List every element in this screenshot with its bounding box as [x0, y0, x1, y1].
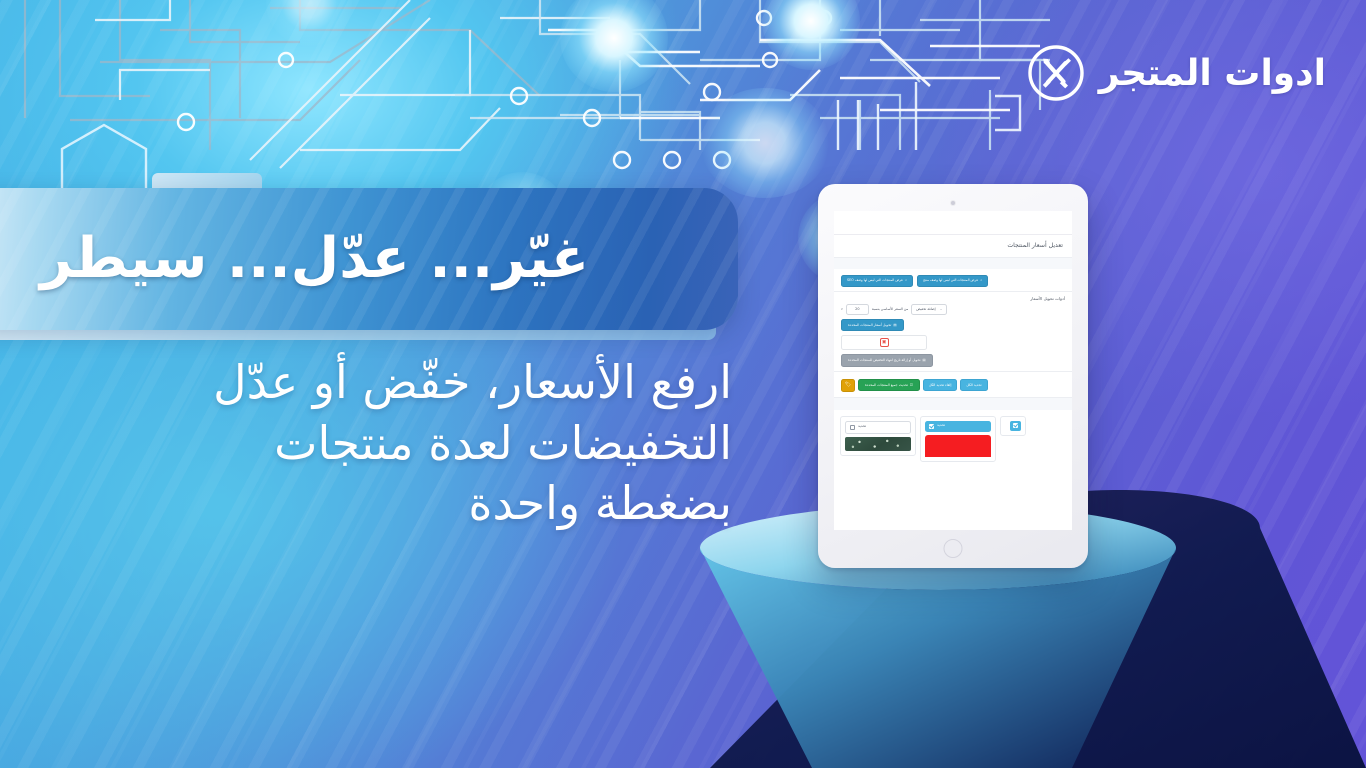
app-screen: تعديل أسعار المنتجات ⌕ عرض المنتجات التي…: [834, 211, 1072, 530]
product-cards-area: تحديد تحديد: [834, 410, 1072, 530]
percentage-input[interactable]: 20: [846, 304, 869, 315]
checkbox-label: تحديد: [937, 424, 945, 428]
filter-no-seo-description-button[interactable]: ⌕ عرض المنتجات التي ليس لها وصف SEO: [841, 275, 913, 287]
brand-name: ادوات المتجر: [1099, 53, 1326, 94]
price-tools-controls-row: ⌄ إضافة تخفيض من السعر الأساسي بنسبة 20 …: [841, 304, 1065, 315]
calculator-icon: ▤: [893, 324, 896, 327]
product-select-checkbox-checked[interactable]: تحديد: [925, 421, 991, 432]
checkbox-unchecked-icon: [850, 425, 855, 430]
product-card[interactable]: تحديد: [840, 416, 916, 456]
update-all-selected-label: تحديث جميع المنتجات المحددة: [865, 384, 908, 387]
subheadline-text: ارفع الأسعار، خفّض أو عدّل التخفيضات لعد…: [172, 352, 732, 534]
checkbox-checked-icon: [929, 424, 934, 429]
percent-unit-label: ٪: [841, 307, 843, 311]
section-gap: [834, 398, 1072, 410]
expiry-date-field[interactable]: ▣: [841, 335, 927, 350]
convert-action-row: ▤ تحويل أسعار المنتجات المحددة: [841, 319, 1065, 331]
divider: [834, 291, 1072, 292]
convert-remove-expiry-button[interactable]: ▤ تحويل أو إزالة تاريخ انتهاء التخفيض لل…: [841, 354, 933, 366]
camera-dot-icon: [951, 201, 955, 205]
footer-actions-row: تحديد الكل إلغاء تحديد الكل ☑ تحديث جميع…: [841, 376, 1065, 392]
divider: [834, 371, 1072, 372]
convert-selected-prices-label: تحويل أسعار المنتجات المحددة: [848, 324, 891, 327]
update-all-selected-button[interactable]: ☑ تحديث جميع المنتجات المحددة: [858, 379, 920, 391]
convert-selected-prices-button[interactable]: ▤ تحويل أسعار المنتجات المحددة: [841, 319, 904, 331]
deselect-all-button[interactable]: إلغاء تحديد الكل: [923, 379, 957, 391]
expiry-action-row: ▤ تحويل أو إزالة تاريخ انتهاء التخفيض لل…: [841, 354, 1065, 366]
check-square-icon: ☑: [910, 384, 913, 387]
filter-no-product-description-label: عرض المنتجات التي ليس لها وصف منتج: [923, 279, 978, 282]
page-title-row: تعديل أسعار المنتجات: [834, 235, 1072, 258]
calendar-red-icon[interactable]: ▣: [880, 338, 889, 347]
product-thumbnail: [845, 437, 911, 451]
product-thumbnail: [925, 435, 991, 457]
checkbox-checked: [1013, 423, 1018, 428]
search-icon: ⌕: [905, 279, 907, 283]
checkbox-label: تحديد: [858, 425, 866, 429]
date-field-row: ▣: [841, 335, 1065, 350]
headline-text: غيّر... عدّل... سيطر: [40, 228, 589, 290]
check-square-icon[interactable]: [1010, 421, 1021, 431]
price-tools-section-title: أدوات تحويل الأسعار: [841, 296, 1065, 301]
headline-banner: غيّر... عدّل... سيطر: [0, 188, 738, 330]
convert-remove-expiry-label: تحويل أو إزالة تاريخ انتهاء التخفيض للمن…: [848, 359, 921, 362]
home-button-icon[interactable]: [944, 539, 963, 558]
product-card[interactable]: تحديد: [920, 416, 996, 462]
filter-no-seo-description-label: عرض المنتجات التي ليس لها وصف SEO: [847, 279, 903, 282]
section-gap: [834, 258, 1072, 269]
product-select-checkbox-unchecked[interactable]: تحديد: [845, 421, 911, 434]
app-topbar: [834, 211, 1072, 235]
operation-select[interactable]: ⌄ إضافة تخفيض: [911, 304, 947, 315]
calendar-icon: ▤: [923, 359, 926, 362]
brand-logo: ادوات المتجر: [1027, 44, 1326, 102]
price-tools-panel: ⌕ عرض المنتجات التي ليس لها وصف منتج ⌕ ع…: [834, 269, 1072, 398]
price-base-label: من السعر الأساسي بنسبة: [872, 307, 908, 311]
chevron-down-icon: ⌄: [940, 308, 943, 311]
search-icon: ⌕: [980, 279, 982, 283]
product-card-partial[interactable]: [1000, 416, 1026, 436]
price-tag-icon[interactable]: 🏷: [841, 379, 855, 392]
filter-no-product-description-button[interactable]: ⌕ عرض المنتجات التي ليس لها وصف منتج: [917, 275, 988, 287]
hero-banner-stage: ادوات المتجر غيّر... عدّل... سيطر ارفع ا…: [0, 0, 1366, 768]
select-all-button[interactable]: تحديد الكل: [960, 379, 987, 391]
wrench-screwdriver-circle-icon: [1027, 44, 1085, 102]
page-title: تعديل أسعار المنتجات: [843, 242, 1063, 249]
tablet-device-mockup: تعديل أسعار المنتجات ⌕ عرض المنتجات التي…: [818, 184, 1088, 568]
filter-button-row: ⌕ عرض المنتجات التي ليس لها وصف منتج ⌕ ع…: [841, 275, 1065, 287]
operation-select-value: إضافة تخفيض: [916, 308, 935, 311]
